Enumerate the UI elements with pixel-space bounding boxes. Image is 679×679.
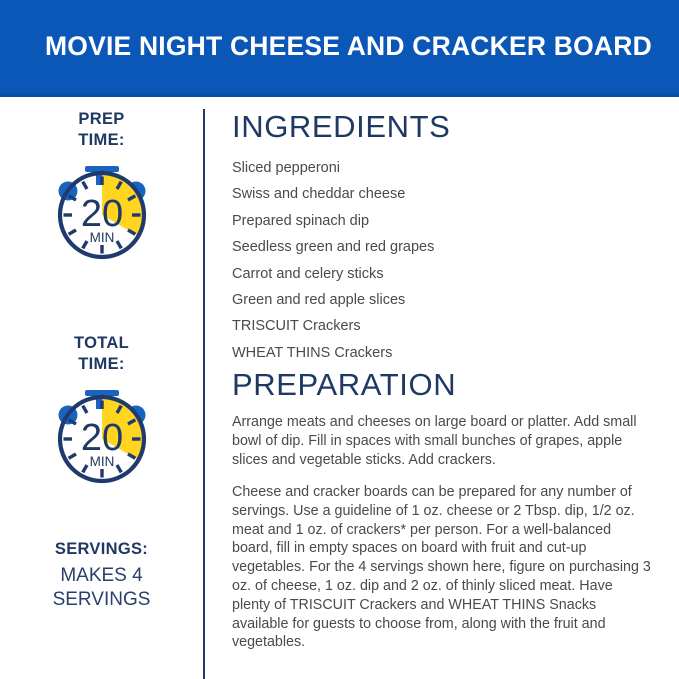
- prep-time-label: PREP TIME:: [0, 109, 203, 151]
- servings-block: SERVINGS: MAKES 4 SERVINGS: [0, 539, 203, 612]
- list-item: Swiss and cheddar cheese: [232, 181, 434, 207]
- list-item: Sliced pepperoni: [232, 155, 434, 181]
- column-divider: [203, 109, 205, 679]
- recipe-meta-column: PREP TIME:: [0, 101, 203, 679]
- stopwatch-icon: 20 MIN: [47, 159, 157, 267]
- recipe-content-column: INGREDIENTS Sliced pepperoni Swiss and c…: [232, 101, 662, 679]
- list-item: Seedless green and red grapes: [232, 234, 434, 260]
- servings-label: SERVINGS:: [0, 539, 203, 560]
- stopwatch-icon: 20 MIN: [47, 383, 157, 491]
- list-item: WHEAT THINS Crackers: [232, 340, 434, 366]
- servings-value-line2: SERVINGS: [0, 588, 203, 612]
- total-time-value: 20: [80, 417, 122, 459]
- preparation-paragraph: Cheese and cracker boards can be prepare…: [232, 483, 652, 652]
- total-time-block: TOTAL TIME:: [0, 333, 203, 491]
- page-title: MOVIE NIGHT CHEESE AND CRACKER BOARD: [45, 31, 652, 62]
- total-time-label-line2: TIME:: [0, 354, 203, 375]
- prep-time-label-line1: PREP: [0, 109, 203, 130]
- servings-value-line1: MAKES 4: [0, 564, 203, 588]
- prep-time-value: 20: [80, 193, 122, 235]
- total-time-label: TOTAL TIME:: [0, 333, 203, 375]
- prep-time-label-line2: TIME:: [0, 130, 203, 151]
- total-time-unit: MIN: [89, 454, 114, 469]
- list-item: TRISCUIT Crackers: [232, 313, 434, 339]
- list-item: Green and red apple slices: [232, 287, 434, 313]
- total-time-label-line1: TOTAL: [0, 333, 203, 354]
- recipe-card-body: PREP TIME:: [0, 101, 679, 679]
- list-item: Prepared spinach dip: [232, 208, 434, 234]
- preparation-heading: PREPARATION: [232, 367, 456, 403]
- prep-time-block: PREP TIME:: [0, 109, 203, 267]
- ingredients-heading: INGREDIENTS: [232, 109, 450, 145]
- ingredients-list: Sliced pepperoni Swiss and cheddar chees…: [232, 155, 434, 366]
- header-banner: MOVIE NIGHT CHEESE AND CRACKER BOARD: [0, 0, 679, 97]
- prep-time-unit: MIN: [89, 230, 114, 245]
- servings-value: MAKES 4 SERVINGS: [0, 564, 203, 612]
- preparation-paragraph: Arrange meats and cheeses on large board…: [232, 413, 652, 469]
- list-item: Carrot and celery sticks: [232, 261, 434, 287]
